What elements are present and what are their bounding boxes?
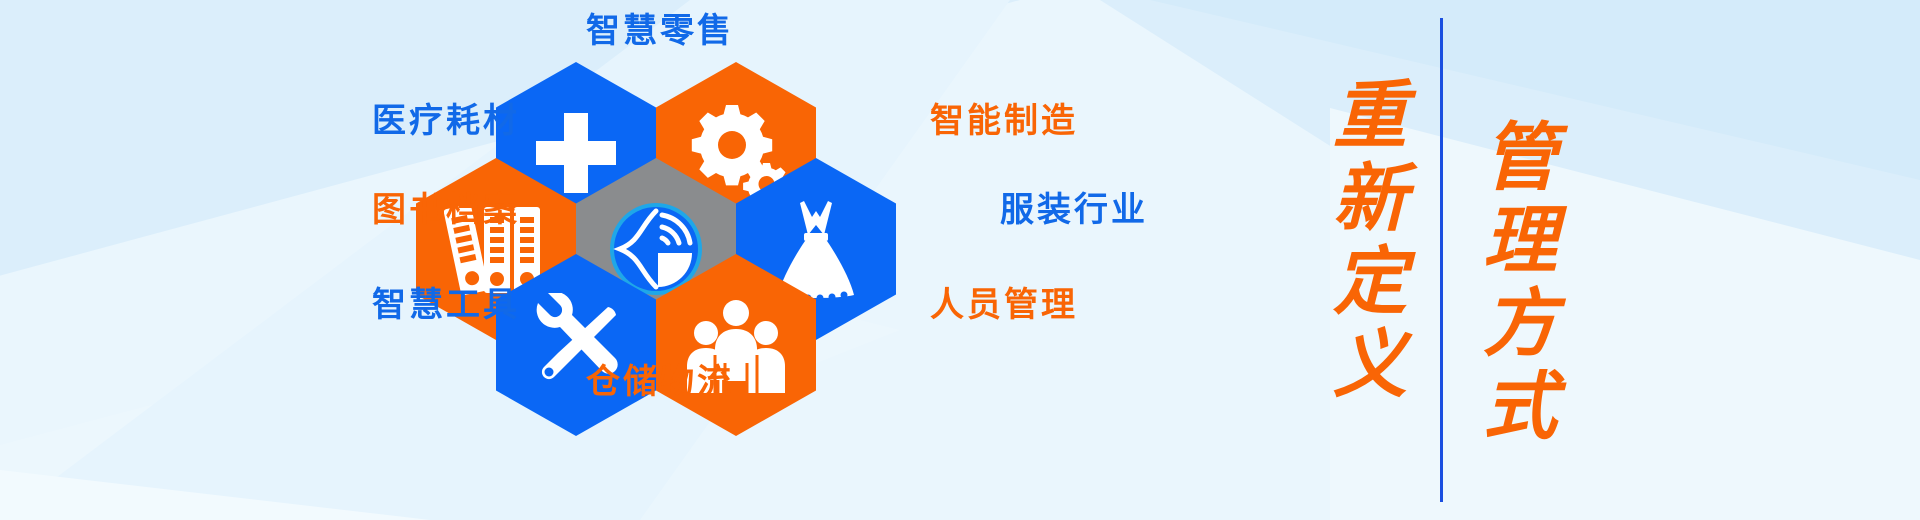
label-smart-manufacturing: 智能制造 — [930, 104, 1270, 138]
slogan-char: 式 — [1483, 366, 1557, 449]
slogan-char: 管 — [1483, 117, 1557, 200]
slogan-divider — [1440, 18, 1443, 502]
slogan-char: 新 — [1333, 158, 1407, 241]
slogan-column-right: 管 理 方 式 — [1460, 0, 1580, 520]
slogan-char: 理 — [1483, 200, 1557, 283]
label-apparel-industry: 服装行业 — [1000, 193, 1340, 227]
slogan-block: 重 新 定 义 管 理 方 式 — [1290, 0, 1710, 520]
promo-banner: 智慧零售 医疗耗材 智能制造 图书档案 服装行业 智慧工具 人员管理 仓储物流 … — [0, 0, 1920, 520]
slogan-char: 重 — [1333, 75, 1407, 158]
slogan-char: 方 — [1483, 283, 1557, 366]
hexagon-cluster: 智慧零售 医疗耗材 智能制造 图书档案 服装行业 智慧工具 人员管理 仓储物流 — [0, 0, 1150, 520]
label-medical-supplies: 医疗耗材 — [180, 104, 520, 138]
label-smart-retail: 智慧零售 — [560, 14, 760, 48]
label-personnel-management: 人员管理 — [930, 288, 1270, 322]
label-books-archives: 图书档案 — [130, 193, 520, 227]
label-warehouse-logistics: 仓储物流 — [560, 365, 760, 399]
slogan-column-left: 重 新 定 义 — [1310, 0, 1430, 520]
slogan-char: 义 — [1333, 324, 1407, 407]
slogan-char: 定 — [1333, 241, 1407, 324]
label-smart-tools: 智慧工具 — [180, 288, 520, 322]
